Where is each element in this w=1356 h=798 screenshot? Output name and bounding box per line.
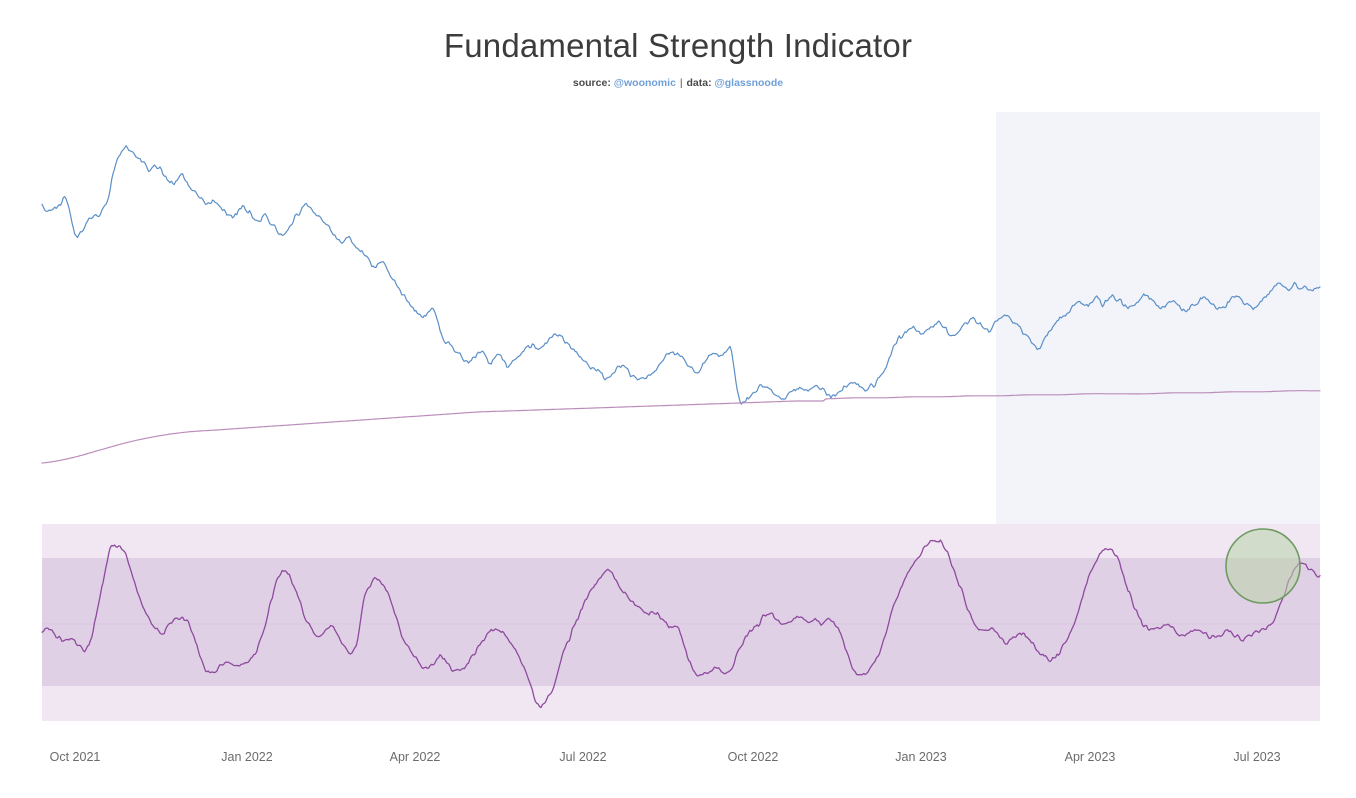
signal-circle-annotation	[1226, 529, 1300, 603]
oscillator-bands-layer	[42, 524, 1320, 721]
band-inner	[42, 558, 1320, 686]
x-axis: Oct 2021Jan 2022Apr 2022Jul 2022Oct 2022…	[0, 748, 1356, 768]
chart-plot-area	[0, 0, 1356, 798]
x-axis-tick-label: Oct 2022	[728, 748, 779, 766]
x-axis-tick-label: Apr 2022	[390, 748, 441, 766]
x-axis-tick-label: Jul 2023	[1233, 748, 1280, 766]
x-axis-tick-label: Apr 2023	[1065, 748, 1116, 766]
annotation-layer	[1226, 529, 1300, 603]
chart-root: Fundamental Strength Indicator source: @…	[0, 0, 1356, 798]
x-axis-tick-label: Jan 2022	[221, 748, 272, 766]
x-axis-tick-label: Oct 2021	[50, 748, 101, 766]
x-axis-tick-label: Jan 2023	[895, 748, 946, 766]
x-axis-tick-label: Jul 2022	[559, 748, 606, 766]
